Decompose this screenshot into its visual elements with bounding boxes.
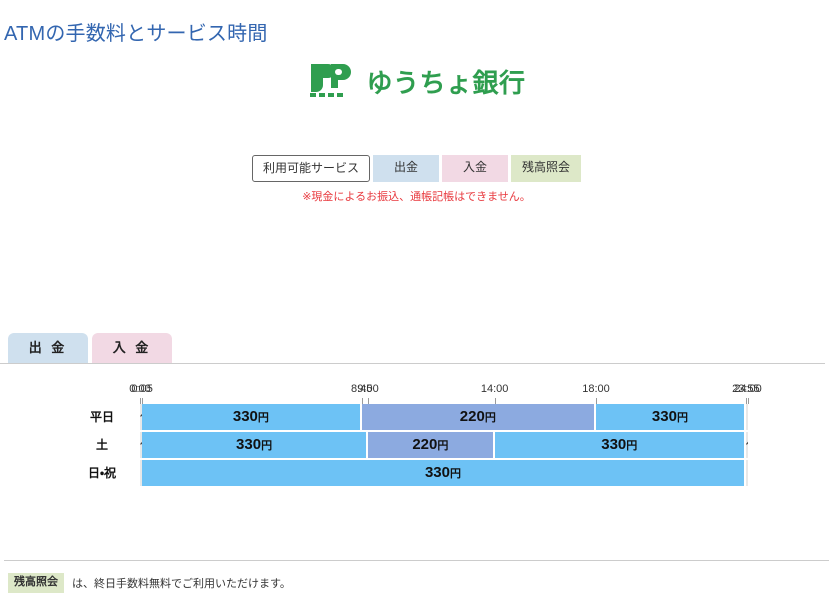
tab-withdraw[interactable]: 出 金 (8, 333, 88, 363)
timeline-row: 土休止330円220円330円休止 (0, 432, 833, 458)
timeline-segment-closed (746, 404, 748, 430)
axis-tick-label: 18:00 (582, 383, 610, 395)
legend-chip-deposit: 入金 (442, 155, 508, 182)
legend-chip-withdraw: 出金 (373, 155, 439, 182)
timeline-segment-fee: 220円 (368, 432, 493, 458)
footer-note: 残高照会 は、終日手数料無料でご利用いただけます。 (8, 573, 291, 593)
axis-tick-label: 24:00 (734, 383, 762, 395)
tab-deposit[interactable]: 入 金 (92, 333, 172, 363)
legend-chip-balance: 残高照会 (511, 155, 581, 182)
brand-logo: ゆうちょ銀行 (0, 62, 833, 100)
footer-text: は、終日手数料無料でご利用いただけます。 (72, 575, 291, 591)
timeline-rows: 平日休止330円220円330円土休止330円220円330円休止日・祝330円 (0, 404, 833, 486)
footer-badge-balance: 残高照会 (8, 573, 64, 593)
fee-timeline-chart: 0:000:058:459:0014:0018:0023:5524:00 平日休… (0, 383, 833, 493)
timeline-segment-closed (746, 460, 748, 486)
timeline-row-label: 日・祝 (74, 460, 130, 486)
brand-name: ゆうちょ銀行 (366, 63, 525, 100)
available-service-legend: 利用可能サービス 出金 入金 残高照会 (0, 155, 833, 182)
legend-title: 利用可能サービス (252, 155, 370, 182)
timeline-row: 平日休止330円220円330円 (0, 404, 833, 430)
axis-tick-label: 9:00 (357, 383, 378, 395)
timeline-segment-fee: 330円 (142, 404, 360, 430)
timeline-segment-fee: 330円 (596, 404, 744, 430)
timeline-row-label: 土 (74, 432, 130, 458)
timeline-segment-fee: 330円 (495, 432, 744, 458)
timeline-row: 日・祝330円 (0, 460, 833, 486)
footer-divider (4, 560, 829, 561)
timeline-segment-fee: 220円 (362, 404, 594, 430)
timeline-row-label: 平日 (74, 404, 130, 430)
jp-bank-logo-icon (307, 62, 355, 100)
timeline-segment-fee: 330円 (142, 460, 744, 486)
page-title: ATMの手数料とサービス時間 (4, 17, 268, 46)
axis-tick-label: 14:00 (481, 383, 509, 395)
service-note: ※現金によるお振込、通帳記帳はできません。 (0, 188, 833, 204)
timeline-segment-closed: 休止 (746, 432, 748, 458)
time-axis-ticks (0, 397, 833, 404)
tab-underline (0, 363, 825, 364)
axis-tick-label: 0:05 (131, 383, 152, 395)
timeline-segment-fee: 330円 (142, 432, 366, 458)
tab-strip: 出 金 入 金 (0, 331, 833, 364)
time-axis-labels: 0:000:058:459:0014:0018:0023:5524:00 (0, 383, 833, 397)
